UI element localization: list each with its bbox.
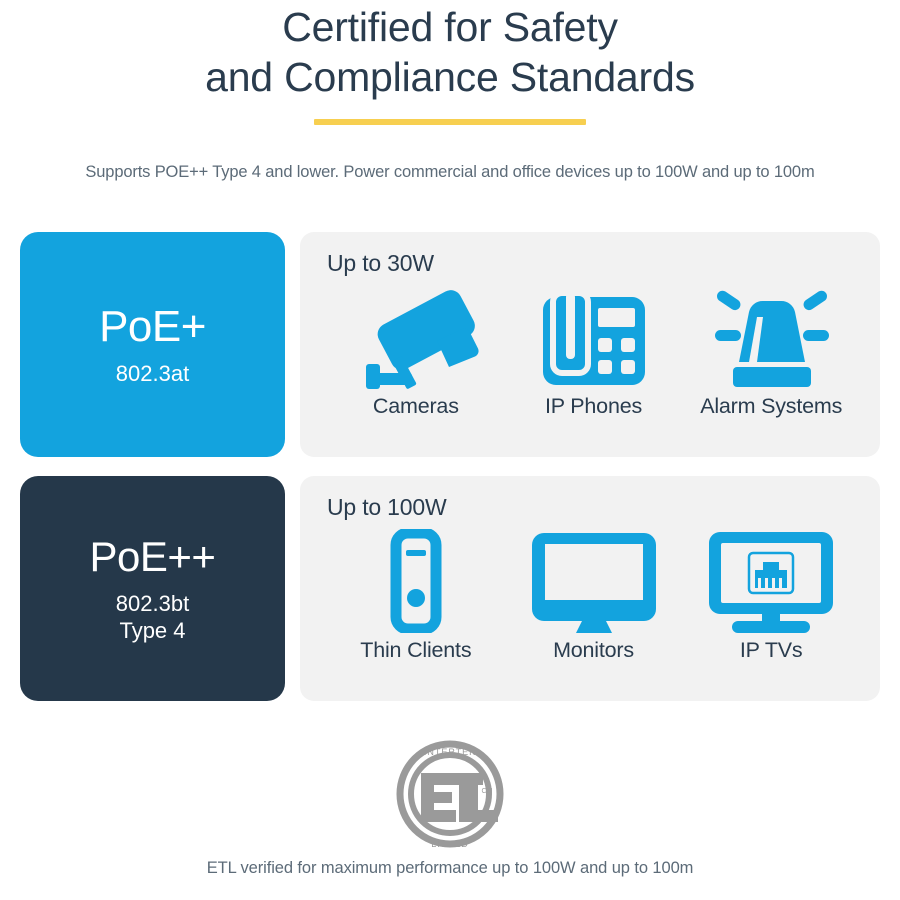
footer-note: ETL verified for maximum performance up … (0, 859, 900, 900)
poe-plusplus-name: PoE++ (90, 533, 216, 581)
device-label: Alarm Systems (700, 393, 842, 419)
device-label: IP Phones (545, 393, 642, 419)
etl-badge-bottom-text: LISTED (431, 839, 469, 849)
device-label: Cameras (373, 393, 459, 419)
device-item-monitors: Monitors (505, 527, 683, 663)
poe-plusplus-power-title: Up to 100W (327, 494, 860, 521)
poe-plusplus-device-panel: Up to 100W Thin Clients (300, 476, 880, 701)
etl-badge-wrap: INTERTEK LISTED CM (0, 735, 900, 853)
poe-plus-standard: 802.3at (116, 360, 189, 387)
device-label: Thin Clients (360, 637, 471, 663)
title-underline-rule (314, 119, 586, 125)
ip-phone-icon (539, 283, 649, 391)
device-label: Monitors (553, 637, 634, 663)
device-item-ip-phones: IP Phones (505, 283, 683, 419)
subtitle-text: Supports POE++ Type 4 and lower. Power c… (0, 163, 900, 182)
device-label: IP TVs (740, 637, 803, 663)
poe-plus-device-list: Cameras (327, 283, 860, 419)
header: Certified for Safety and Compliance Stan… (0, 0, 900, 182)
poe-plus-badge-card: PoE+ 802.3at (20, 232, 285, 457)
etl-badge-top-text: INTERTEK (424, 747, 476, 757)
page-title-line-1: Certified for Safety (0, 2, 900, 52)
device-item-alarm-systems: Alarm Systems (682, 283, 860, 419)
monitor-icon (526, 527, 662, 635)
poe-plusplus-standard: 802.3bt Type 4 (116, 590, 189, 644)
poe-plusplus-standard-line: 802.3bt (116, 590, 189, 617)
thin-client-icon (379, 527, 453, 635)
poe-plusplus-badge-card: PoE++ 802.3bt Type 4 (20, 476, 285, 701)
ip-tv-icon (704, 527, 838, 635)
poe-plusplus-type-line: Type 4 (116, 617, 189, 644)
page-title-line-2: and Compliance Standards (0, 52, 900, 102)
poe-plus-device-panel: Up to 30W (300, 232, 880, 457)
poe-plus-power-title: Up to 30W (327, 250, 860, 277)
alarm-siren-icon (705, 283, 837, 391)
etl-badge-trademark-text: CM (482, 788, 493, 795)
poe-plus-name: PoE+ (99, 303, 206, 351)
security-camera-icon (352, 283, 480, 391)
poe-plusplus-device-list: Thin Clients Monitors (327, 527, 860, 663)
device-item-ip-tvs: IP TVs (682, 527, 860, 663)
footer: INTERTEK LISTED CM ETL verified for maxi… (0, 735, 900, 900)
device-item-cameras: Cameras (327, 283, 505, 419)
poe-row-plusplus: PoE++ 802.3bt Type 4 Up to 100W (20, 476, 880, 701)
etl-intertek-listed-badge: INTERTEK LISTED CM (391, 735, 509, 853)
poe-rows: PoE+ 802.3at Up to 30W (20, 232, 880, 701)
poe-certification-infographic: Certified for Safety and Compliance Stan… (0, 0, 900, 900)
poe-row-plus: PoE+ 802.3at Up to 30W (20, 232, 880, 457)
device-item-thin-clients: Thin Clients (327, 527, 505, 663)
